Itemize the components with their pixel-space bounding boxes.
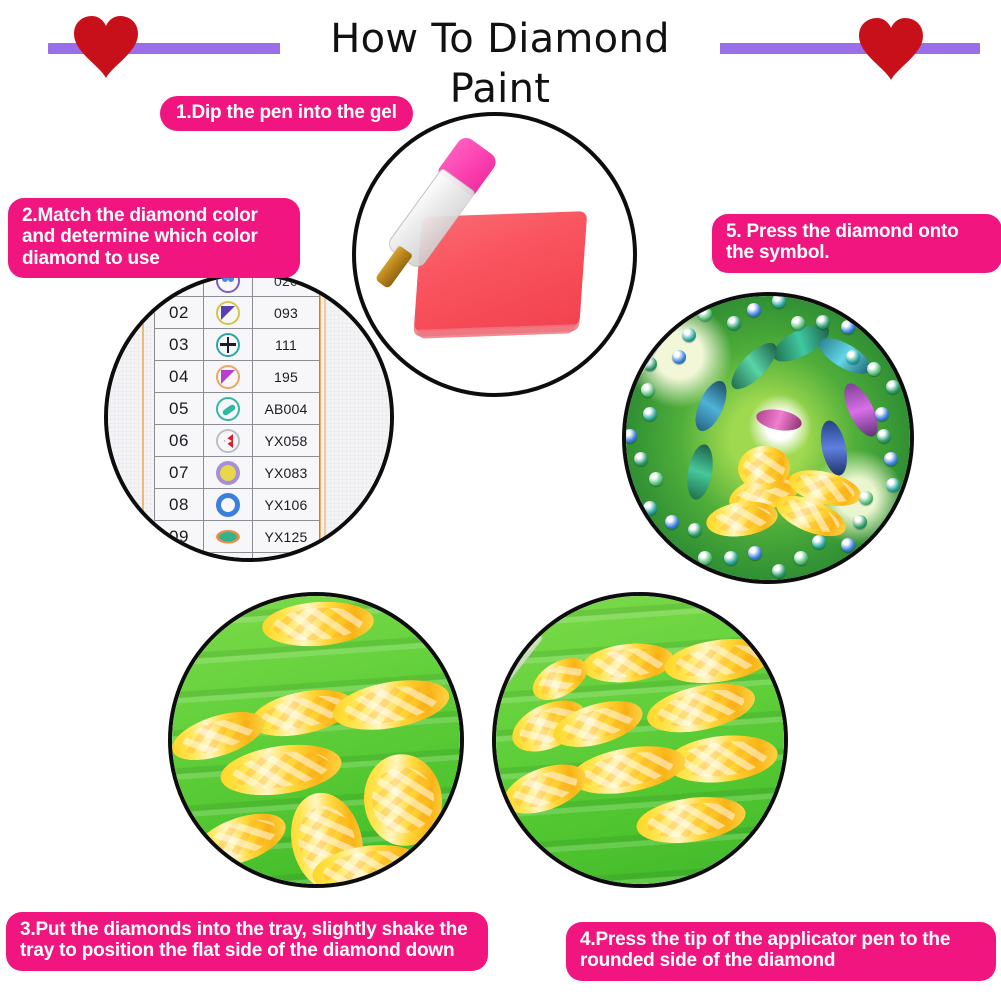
chart-symbol-cell — [204, 457, 253, 489]
chart-number-cell: 10 — [155, 553, 204, 559]
step-5-photo — [622, 292, 914, 584]
mandala-round-bead — [884, 452, 898, 466]
mandala-bead — [689, 376, 733, 435]
chart-number-cell: 04 — [155, 361, 204, 393]
chart-number-cell: 08 — [155, 489, 204, 521]
mandala-round-bead — [747, 303, 761, 317]
table-row: 06YX058 — [155, 425, 320, 457]
chart-number-cell: 02 — [155, 297, 204, 329]
step-1-photo — [352, 112, 637, 397]
chart-code-cell: YX083 — [253, 457, 320, 489]
step-2-photo: 0102002093031110419505AB00406YX05807YX08… — [104, 272, 394, 562]
mandala-round-bead — [649, 472, 663, 486]
mandala-round-bead — [772, 296, 786, 308]
chart-number-cell: 09 — [155, 521, 204, 553]
table-row: 10 — [155, 553, 320, 559]
mandala-round-bead — [698, 551, 712, 565]
mandala-round-bead — [772, 564, 786, 578]
chart-symbol-cell — [204, 329, 253, 361]
chart-code-cell: YX058 — [253, 425, 320, 457]
chart-code-cell: YX106 — [253, 489, 320, 521]
mandala-round-bead — [643, 407, 657, 421]
mandala-round-bead — [841, 538, 855, 552]
chart-number-cell: 05 — [155, 393, 204, 425]
mandala-bead — [816, 418, 851, 478]
mandala-round-bead — [841, 320, 855, 334]
chart-number-cell: 07 — [155, 457, 204, 489]
mandala-round-bead — [816, 315, 830, 329]
mandala-round-bead — [643, 501, 657, 515]
step-1-label: 1.Dip the pen into the gel — [160, 96, 413, 131]
table-row: 01020 — [155, 276, 320, 297]
chart-code-cell: 195 — [253, 361, 320, 393]
chart-number-cell: 06 — [155, 425, 204, 457]
mandala-round-bead — [886, 478, 900, 492]
mandala-round-bead — [886, 380, 900, 394]
mandala-bead — [683, 442, 716, 501]
mandala-round-bead — [626, 429, 637, 443]
chart-number-cell: 03 — [155, 329, 204, 361]
infographic-canvas: How To Diamond Paint 0102002093031110419… — [0, 0, 1001, 1001]
mandala-round-bead — [698, 307, 712, 321]
mandala-round-bead — [634, 452, 648, 466]
chart-code-cell: 093 — [253, 297, 320, 329]
mandala-round-bead — [665, 515, 679, 529]
chart-symbol-cell — [204, 393, 253, 425]
chart-symbol-cell — [204, 425, 253, 457]
chart-symbol-cell — [204, 361, 253, 393]
chart-edge-strip — [324, 276, 326, 558]
mandala-round-bead — [688, 523, 702, 537]
chart-symbol-cell — [204, 276, 253, 297]
mandala-bead — [725, 336, 784, 396]
mandala-round-bead — [682, 328, 696, 342]
table-row: 03111 — [155, 329, 320, 361]
table-row: 08YX106 — [155, 489, 320, 521]
mandala-round-bead — [724, 551, 738, 565]
chart-number-cell: 01 — [155, 276, 204, 297]
mandala-round-bead — [859, 491, 873, 505]
left-arrow-symbol — [216, 429, 240, 453]
mandala-round-bead — [727, 316, 741, 330]
chart-symbol-cell — [204, 297, 253, 329]
heart-icon — [70, 14, 142, 80]
chart-code-cell: AB004 — [253, 393, 320, 425]
leaf-marquise-symbol — [216, 557, 240, 559]
table-row: 05AB004 — [155, 393, 320, 425]
mandala-round-bead — [875, 407, 889, 421]
smiley-circle-symbol — [216, 276, 240, 293]
table-row: 04195 — [155, 361, 320, 393]
header: How To Diamond Paint — [0, 0, 1001, 88]
chart-code-cell: YX125 — [253, 521, 320, 553]
mandala-canvas — [626, 296, 910, 580]
slanted-capsule-symbol — [216, 397, 240, 421]
plus-circle-symbol — [216, 333, 240, 357]
mandala-round-bead — [877, 429, 891, 443]
step-2-label: 2.Match the diamond color and determine … — [8, 198, 300, 278]
open-ring-symbol — [216, 493, 240, 517]
mandala-round-bead — [748, 546, 762, 560]
mandala-round-bead — [791, 316, 805, 330]
quarter-triangle-symbol — [216, 365, 240, 389]
color-symbol-table: 0102002093031110419505AB00406YX05807YX08… — [154, 276, 320, 558]
mandala-round-bead — [853, 515, 867, 529]
chart-code-cell — [253, 553, 320, 559]
heart-icon — [855, 16, 927, 82]
chart-symbol-cell — [204, 489, 253, 521]
chart-symbol-cell — [204, 553, 253, 559]
mandala-bead — [755, 406, 804, 434]
chart-code-cell: 111 — [253, 329, 320, 361]
chart-edge-strip — [142, 276, 144, 558]
step-3-label: 3.Put the diamonds into the tray, slight… — [6, 912, 488, 971]
table-row: 07YX083 — [155, 457, 320, 489]
quarter-triangle-symbol — [216, 301, 240, 325]
chart-code-cell: 020 — [253, 276, 320, 297]
mandala-round-bead — [641, 383, 655, 397]
step-4-photo — [492, 592, 788, 888]
step-3-photo — [168, 592, 464, 888]
table-row: 09YX125 — [155, 521, 320, 553]
filled-dot-ring-symbol — [216, 461, 240, 485]
mandala-round-bead — [672, 350, 686, 364]
mandala-round-bead — [812, 535, 826, 549]
table-row: 02093 — [155, 297, 320, 329]
mandala-round-bead — [867, 362, 881, 376]
chart-symbol-cell — [204, 521, 253, 553]
leaf-marquise-symbol — [216, 525, 240, 549]
header-bar-right — [690, 43, 980, 54]
step-5-label: 5. Press the diamond onto the symbol. — [712, 214, 1001, 273]
mandala-round-bead — [794, 551, 808, 565]
mandala-round-bead — [846, 350, 860, 364]
step-4-label: 4.Press the tip of the applicator pen to… — [566, 922, 996, 981]
